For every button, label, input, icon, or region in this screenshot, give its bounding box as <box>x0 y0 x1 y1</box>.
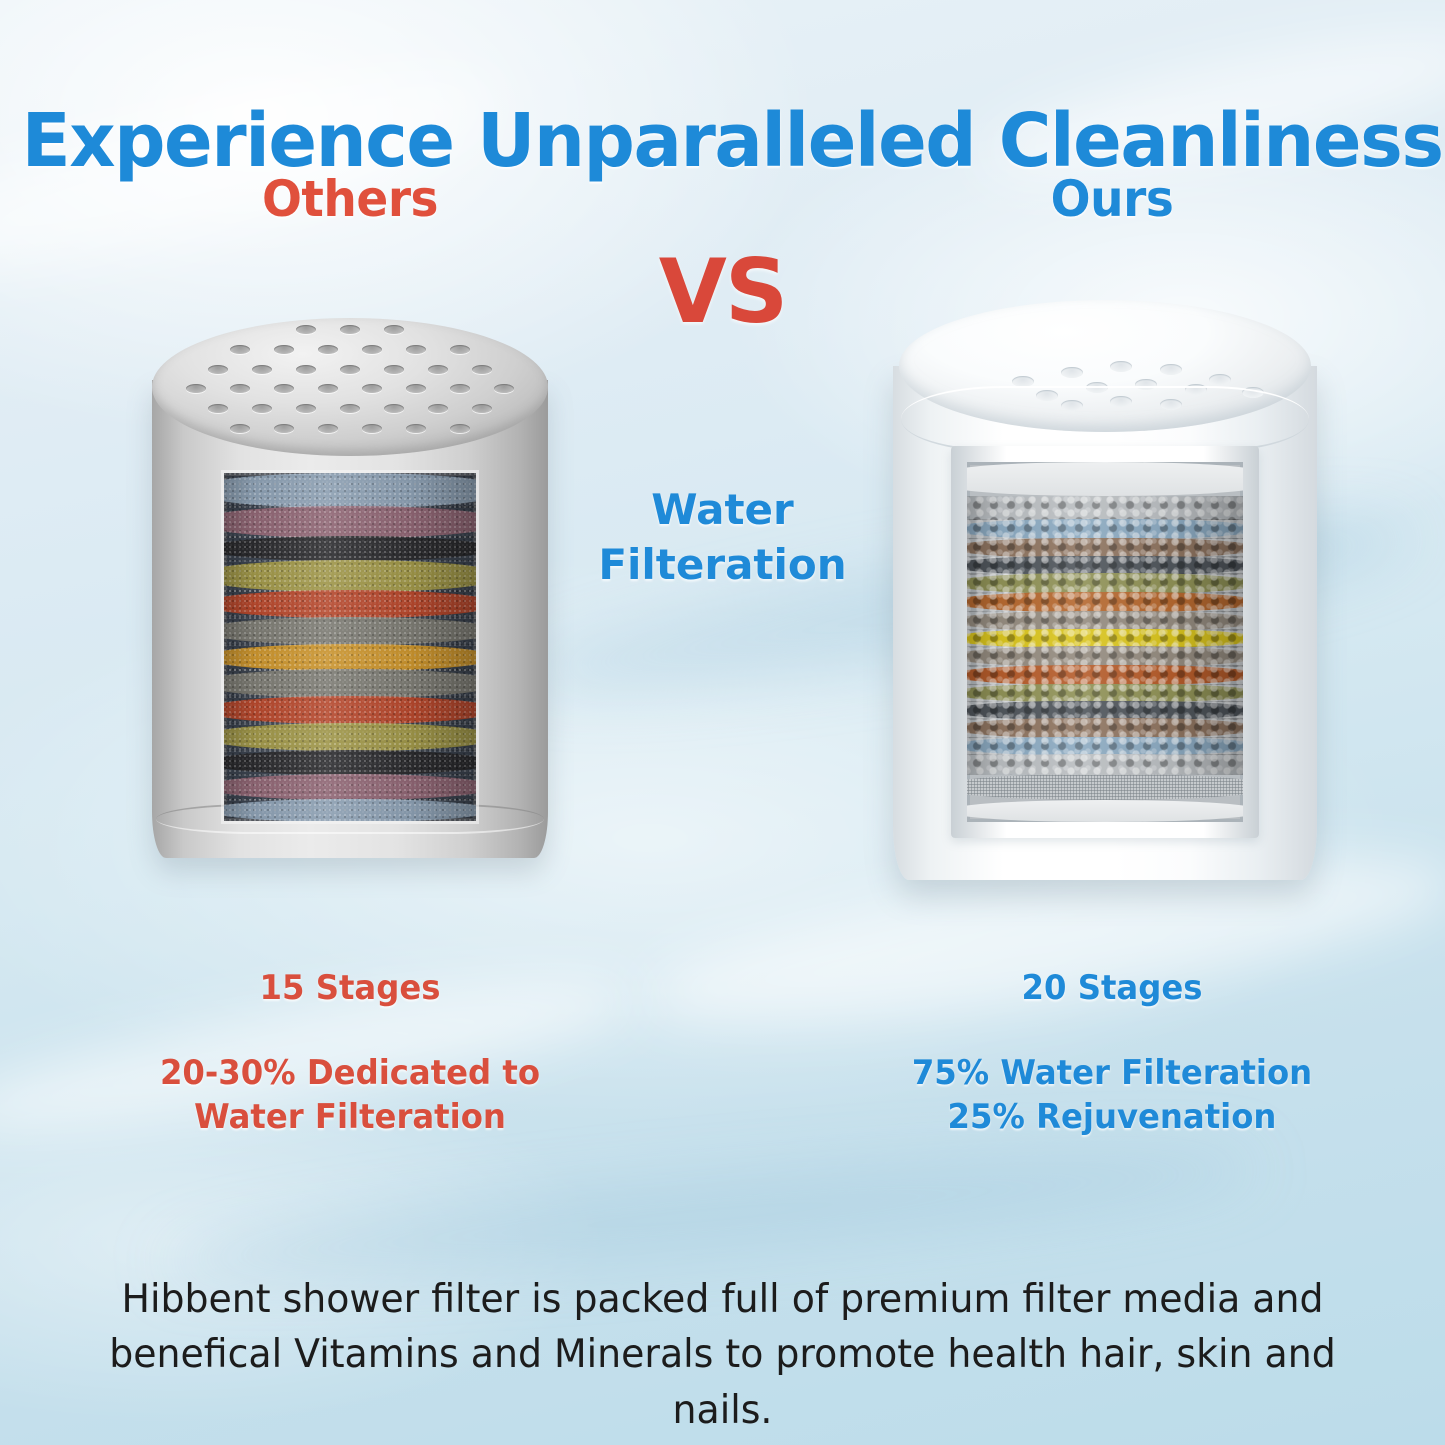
media-band <box>967 592 1243 612</box>
cartridge-cap-seam <box>901 386 1309 452</box>
cap-perforation-hole <box>428 365 448 374</box>
media-band <box>224 473 476 508</box>
cap-perforation-hole <box>406 384 426 393</box>
cap-perforation-hole <box>1209 374 1231 385</box>
media-band <box>224 750 476 775</box>
media-band-shading <box>224 669 476 697</box>
media-band-shading <box>224 590 476 618</box>
cap-perforation-hole <box>230 345 250 354</box>
cap-perforation-hole <box>252 365 272 374</box>
media-band-shading <box>967 684 1243 703</box>
media-band-shading <box>224 560 476 592</box>
media-band <box>224 774 476 801</box>
cap-perforation-hole <box>384 325 404 334</box>
cap-perforation-hole <box>340 365 360 374</box>
cap-perforation-hole <box>340 404 360 413</box>
media-band-shading <box>967 665 1243 685</box>
media-band <box>967 737 1243 756</box>
media-band-shading <box>967 519 1243 539</box>
cap-perforation-hole <box>1160 364 1182 375</box>
media-band <box>967 665 1243 685</box>
media-band <box>224 799 476 821</box>
media-band <box>967 646 1243 666</box>
media-band-shading <box>967 592 1243 612</box>
cap-perforation-hole <box>472 404 492 413</box>
cartridge-cap-others <box>152 318 548 456</box>
media-band-shading <box>224 750 476 775</box>
media-band-shading <box>967 496 1243 520</box>
media-band-shading <box>224 506 476 538</box>
center-label-water-filteration: WaterFilteration <box>575 482 870 593</box>
media-band <box>967 538 1243 558</box>
media-band-shading <box>224 696 476 724</box>
cap-perforation-hole <box>450 424 470 433</box>
media-window-others <box>224 473 476 821</box>
cap-perforation-hole <box>274 384 294 393</box>
filter-cartridge-ours <box>893 300 1317 880</box>
media-band-shading <box>224 799 476 821</box>
cap-perforation-hole <box>362 345 382 354</box>
cap-perforation-hole <box>1110 361 1132 372</box>
media-band-shading <box>967 556 1243 575</box>
media-band-shading <box>967 611 1243 631</box>
column-title-ours: Ours <box>924 170 1300 228</box>
stat-detail-ours: 75% Water Filteration25% Rejuvenation <box>875 1052 1350 1139</box>
media-band <box>967 754 1243 776</box>
cap-perforation-hole <box>340 325 360 334</box>
cap-perforation-hole <box>450 384 470 393</box>
cap-perforation-hole <box>384 404 404 413</box>
media-band <box>224 644 476 671</box>
cap-perforation-hole <box>252 404 272 413</box>
filter-mesh-screen-top <box>967 462 1243 496</box>
cap-perforation-hole <box>1061 367 1083 378</box>
cap-perforation-hole <box>318 345 338 354</box>
filter-mesh-screen-bottom <box>967 774 1243 800</box>
cap-perforation-hole <box>208 365 228 374</box>
cap-perforation-hole <box>362 384 382 393</box>
cap-perforation-hole <box>428 404 448 413</box>
cap-perforation-hole <box>318 424 338 433</box>
media-band <box>967 573 1243 593</box>
media-band <box>224 590 476 618</box>
media-band-shading <box>967 646 1243 666</box>
media-band <box>967 611 1243 631</box>
media-band-shading <box>224 774 476 801</box>
media-band <box>967 519 1243 539</box>
cap-perforation-hole <box>406 345 426 354</box>
cap-perforation-hole <box>362 424 382 433</box>
media-band-shading <box>967 701 1243 720</box>
media-band-shading <box>224 723 476 751</box>
cap-perforation-hole <box>406 424 426 433</box>
stat-detail-others: 20-30% Dedicated toWater Filteration <box>113 1052 588 1139</box>
media-band <box>967 496 1243 520</box>
cap-perforation-hole <box>274 345 294 354</box>
cap-perforation-hole <box>384 365 404 374</box>
media-band-shading <box>967 718 1243 738</box>
stat-stages-ours: 20 Stages <box>922 968 1302 1008</box>
media-band <box>967 684 1243 703</box>
cap-perforation-hole <box>296 325 316 334</box>
media-band-shading <box>224 473 476 508</box>
cap-perforation-hole <box>208 404 228 413</box>
cap-perforation-hole <box>274 424 294 433</box>
cap-perforation-hole <box>230 384 250 393</box>
media-window-frame-ours <box>951 446 1259 838</box>
media-band <box>967 718 1243 738</box>
media-window-ours <box>967 462 1243 822</box>
media-band <box>967 556 1243 575</box>
cap-perforation-hole <box>296 365 316 374</box>
cap-perforation-hole <box>318 384 338 393</box>
media-band-shading <box>967 573 1243 593</box>
cap-perforation-hole <box>494 384 514 393</box>
cap-perforation-hole <box>186 384 206 393</box>
cap-perforation-hole <box>296 404 316 413</box>
media-band-shading <box>967 754 1243 776</box>
footer-description: Hibbent shower filter is packed full of … <box>72 1272 1373 1438</box>
media-band-shading <box>224 644 476 671</box>
filter-mesh-screen-bottom-outer <box>967 800 1243 822</box>
vs-badge: VS <box>585 240 860 343</box>
media-band <box>967 701 1243 720</box>
column-title-others: Others <box>162 170 538 228</box>
media-band-shading <box>967 737 1243 756</box>
media-band-shading <box>224 536 476 561</box>
cap-perforation-hole <box>450 345 470 354</box>
stat-stages-others: 15 Stages <box>160 968 540 1008</box>
media-band <box>224 560 476 592</box>
media-band-shading <box>224 617 476 645</box>
media-band <box>224 696 476 724</box>
media-band <box>224 506 476 538</box>
media-band <box>224 723 476 751</box>
filter-cartridge-others <box>152 318 548 858</box>
media-band-shading <box>967 538 1243 558</box>
media-band <box>224 617 476 645</box>
media-band <box>224 669 476 697</box>
infographic-canvas: Experience Unparalleled Cleanliness Othe… <box>0 0 1445 1445</box>
cap-perforation-hole <box>230 424 250 433</box>
media-band-shading <box>967 629 1243 648</box>
media-band <box>224 536 476 561</box>
cap-perforation-hole <box>472 365 492 374</box>
media-band <box>967 629 1243 648</box>
